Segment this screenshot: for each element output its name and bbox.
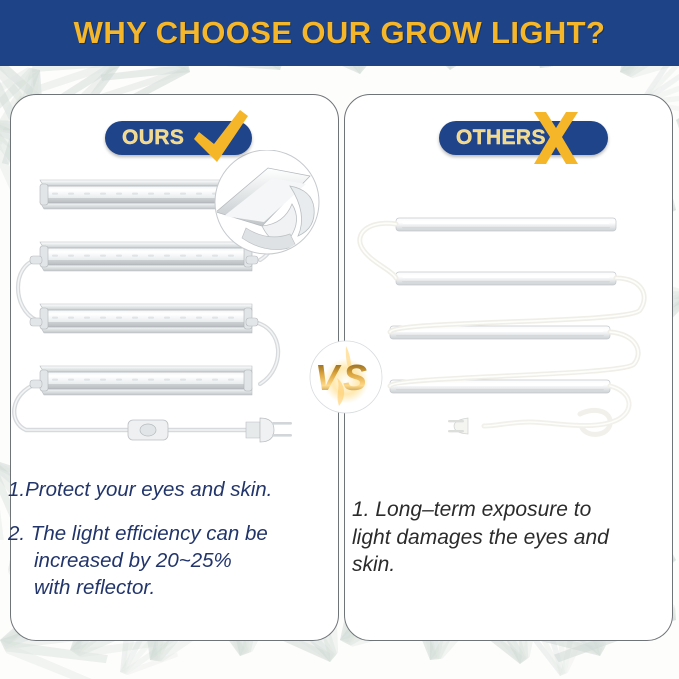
power-plug [448,418,468,434]
bullet-ours-1-line-1: 1.Protect your eyes and skin. [8,478,272,501]
product-image-others [344,200,671,450]
inline-switch [128,420,168,440]
bullet-ours-1: 1.Protect your eyes and skin. [8,476,338,503]
badge-others: OTHERS [439,121,608,155]
bullet-others-1-line-2: light damages the eyes and [352,524,662,552]
bullet-ours-2: 2. The light efficiency can be increased… [8,520,338,601]
svg-text:V: V [315,357,342,398]
bullets-ours: 1.Protect your eyes and skin. 2. The lig… [8,476,338,618]
bullet-ours-2-line-1: 2. The light efficiency can be [8,522,268,545]
product-image-ours [10,150,337,470]
badge-ours-label: OURS [122,126,184,150]
header-banner: WHY CHOOSE OUR GROW LIGHT? [0,0,679,66]
infographic-canvas: WHY CHOOSE OUR GROW LIGHT? [0,0,679,679]
badge-ours: OURS [105,121,252,155]
reflector-detail-callout [215,150,319,254]
svg-text:S: S [343,357,367,398]
badge-others-label: OTHERS [456,126,546,150]
bullet-others-1-line-1: 1. Long–term exposure to [352,498,591,521]
bullet-others-1: 1. Long–term exposure to light damages t… [352,496,662,579]
bullet-others-1-line-3: skin. [352,551,662,579]
bullet-ours-2-line-2: increased by 20~25% [8,547,338,574]
page-title: WHY CHOOSE OUR GROW LIGHT? [74,15,606,51]
power-plug [246,418,292,442]
versus-emblem: V S [309,340,383,414]
bullet-ours-2-line-3: with reflector. [8,574,338,601]
bullets-others: 1. Long–term exposure to light damages t… [352,496,662,596]
